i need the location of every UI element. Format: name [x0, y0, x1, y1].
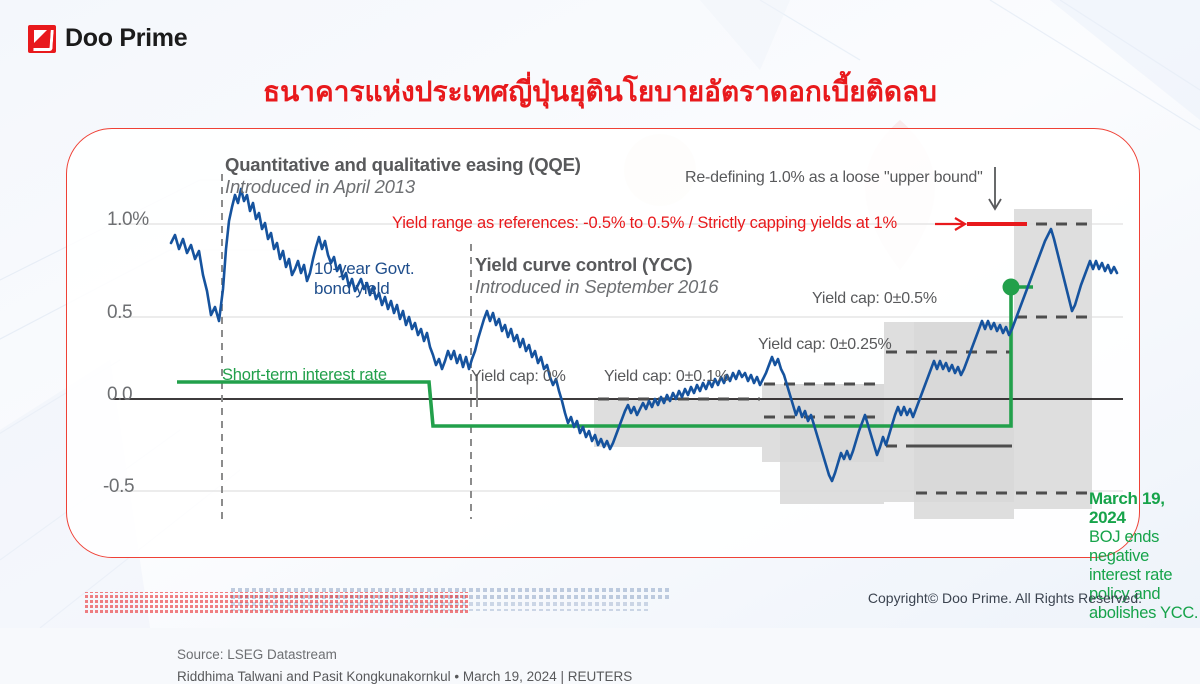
page-title: ธนาคารแห่งประเทศญี่ปุ่นยุตินโยบายอัตราดอ… [0, 70, 1200, 114]
brand-logo: Doo Prime [28, 24, 187, 53]
series-label-line1: 10-year Govt. [314, 259, 414, 279]
annotation-ycc-title: Yield curve control (YCC) [475, 254, 692, 276]
annotation-qqe-title: Quantitative and qualitative easing (QQE… [225, 154, 581, 176]
chart-credit: Riddhima Talwani and Pasit Kongkunakornk… [177, 669, 632, 684]
annotation-qqe-subtitle: Introduced in April 2013 [225, 176, 415, 198]
doo-prime-logo-icon [28, 25, 56, 53]
end-event-body: BOJ ends negative interest rate policy a… [1089, 528, 1200, 623]
annotation-cap-0p5: Yield cap: 0±0.5% [812, 290, 937, 308]
y-axis-tick-3: 0.0 [107, 384, 132, 406]
series-label-10y-bond-yield: 10-year Govt. bond yield [314, 259, 414, 299]
page-header: Doo Prime ธนาคารแห่งประเทศญี่ปุ่นยุตินโย… [0, 0, 1200, 120]
series-label-short-term-rate: Short-term interest rate [222, 366, 387, 385]
copyright-notice: Copyright© Doo Prime. All Rights Reserve… [868, 590, 1142, 606]
end-event-date-line1: March 19, [1089, 489, 1200, 508]
red-arrow-icon [935, 218, 965, 230]
y-axis-tick-2: 0.5 [107, 302, 132, 324]
y-axis-tick-4: -0.5 [103, 476, 134, 498]
annotation-cap-0p1: Yield cap: 0±0.1% [604, 368, 729, 386]
chart-card: 1.0% 0.5 0.0 -0.5 Quantitative and quali… [66, 128, 1140, 558]
upper-bound-arrow-icon [989, 167, 1001, 209]
annotation-yield-range: Yield range as references: -0.5% to 0.5%… [392, 214, 897, 233]
chart-source: Source: LSEG Datastream [177, 647, 337, 662]
annotation-cap-0p25: Yield cap: 0±0.25% [758, 336, 892, 354]
annotation-upper-bound: Re-defining 1.0% as a loose "upper bound… [685, 169, 983, 187]
annotation-ycc-subtitle: Introduced in September 2016 [475, 276, 718, 298]
annotation-cap-0: Yield cap: 0% [471, 368, 566, 386]
end-event-date-line2: 2024 [1089, 508, 1200, 527]
y-axis-tick-1: 1.0% [107, 209, 149, 231]
brand-name: Doo Prime [65, 24, 187, 53]
series-label-line2: bond yield [314, 279, 414, 299]
